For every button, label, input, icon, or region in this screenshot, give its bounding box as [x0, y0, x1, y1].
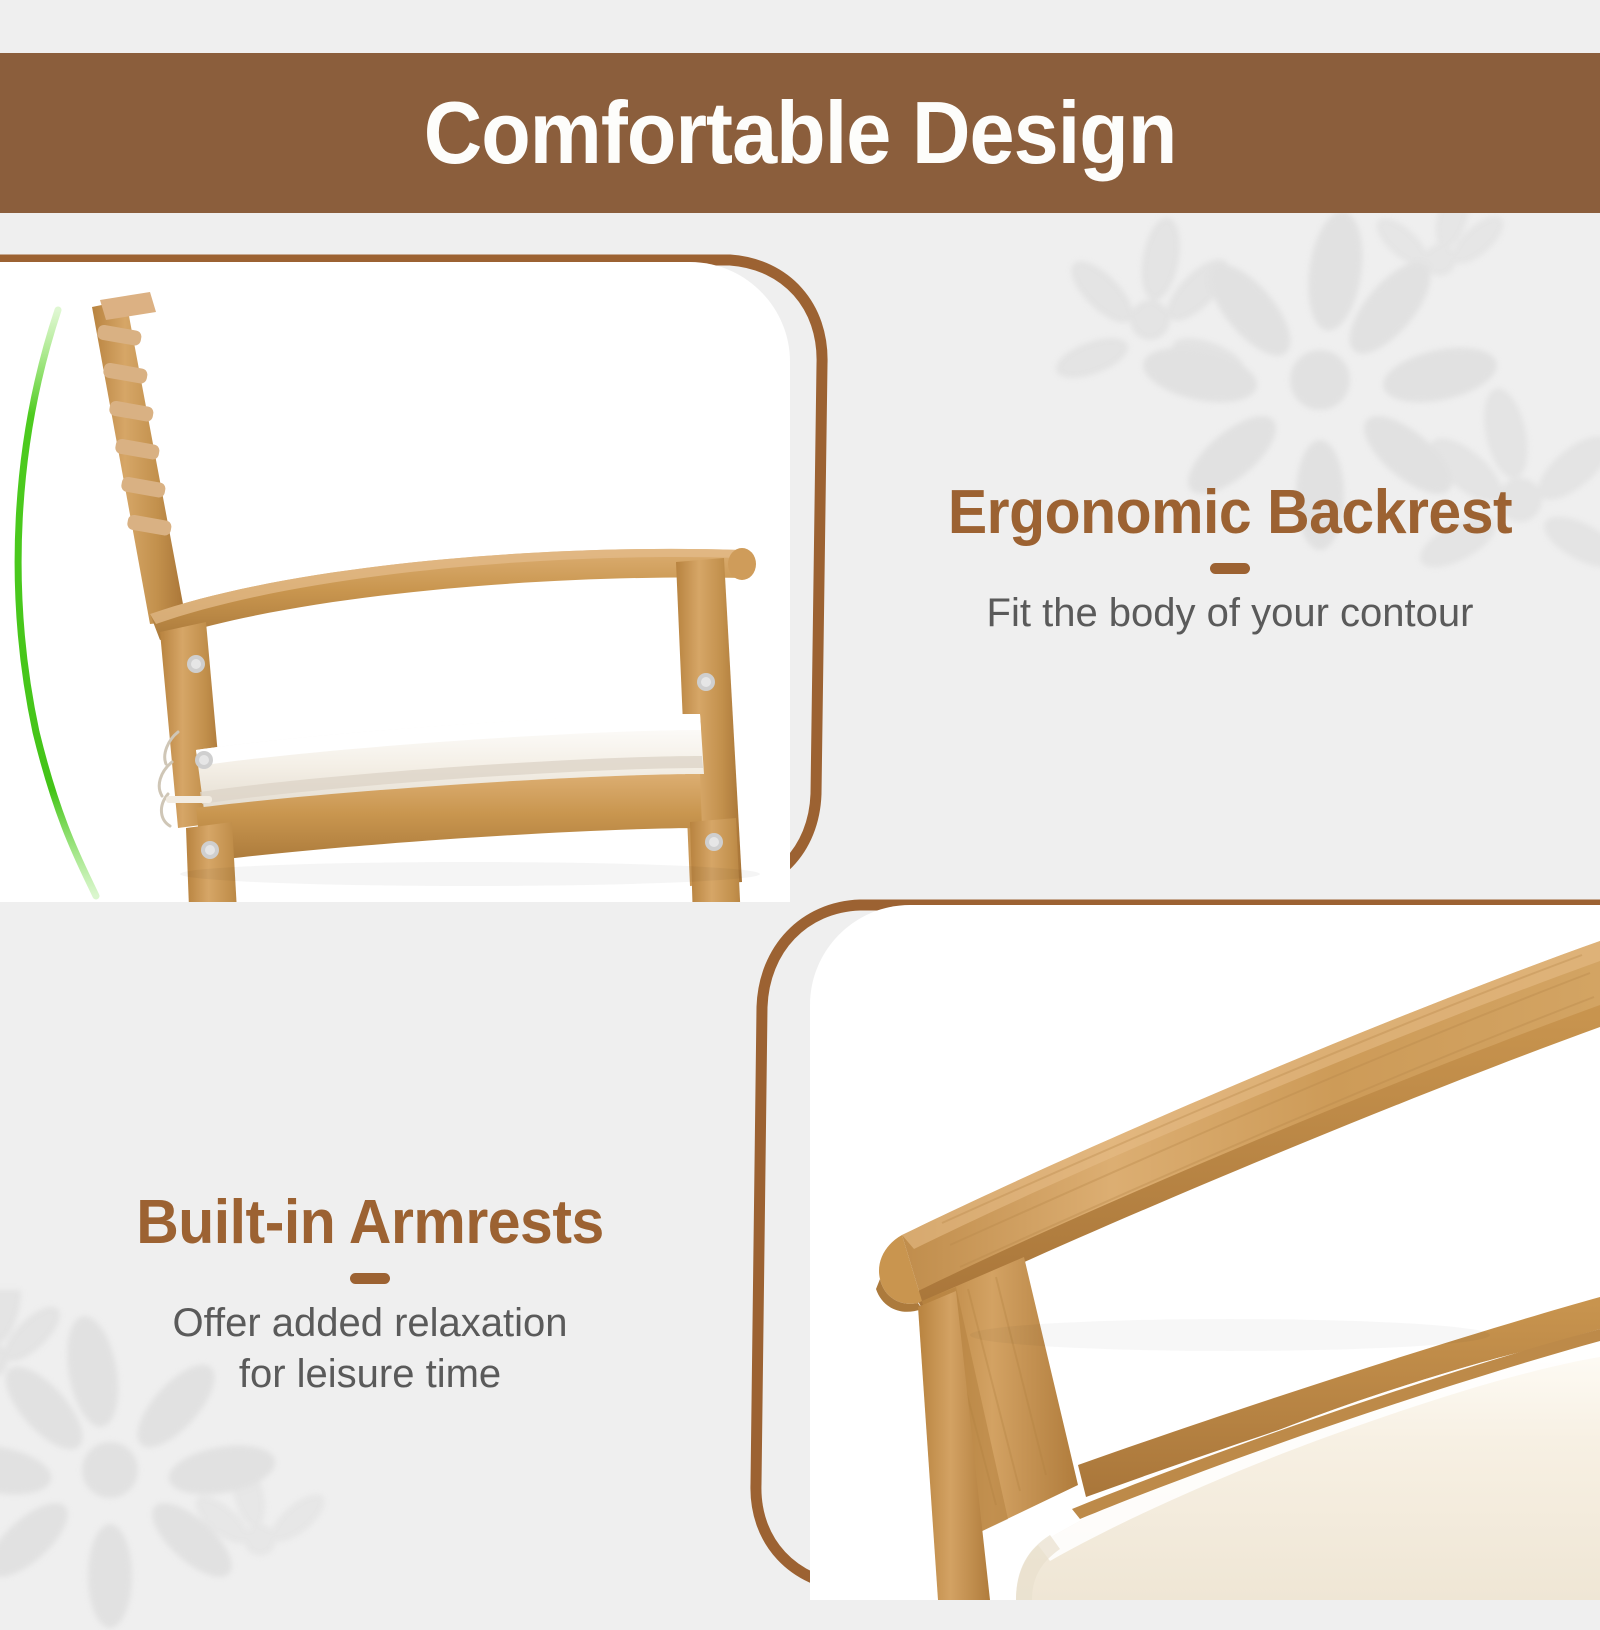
- feature-panel-built-in-armrests: [700, 905, 1600, 1600]
- feature-panel-ergonomic-backrest: [0, 262, 900, 902]
- armrest-closeup-icon: [810, 905, 1600, 1600]
- chair-side-profile-icon: [0, 262, 790, 902]
- feature-text-ergonomic-backrest: Ergonomic Backrest Fit the body of your …: [880, 480, 1580, 639]
- feature-image-card-top: [0, 262, 790, 902]
- feature-subtitle-ergonomic-backrest: Fit the body of your contour: [880, 588, 1580, 639]
- header-banner: Comfortable Design: [0, 53, 1600, 213]
- feature-title-built-in-armrests: Built-in Armrests: [38, 1190, 703, 1255]
- feature-subtitle-built-in-armrests: Offer added relaxation for leisure time: [20, 1298, 720, 1400]
- feature-image-card-bottom: [810, 905, 1600, 1600]
- feature-title-ergonomic-backrest: Ergonomic Backrest: [898, 480, 1563, 545]
- title-divider-dash-bottom: [350, 1273, 390, 1284]
- page-title: Comfortable Design: [424, 82, 1177, 184]
- contour-curve-icon: [18, 310, 96, 896]
- feature-text-built-in-armrests: Built-in Armrests Offer added relaxation…: [20, 1190, 720, 1400]
- title-divider-dash-top: [1210, 563, 1250, 574]
